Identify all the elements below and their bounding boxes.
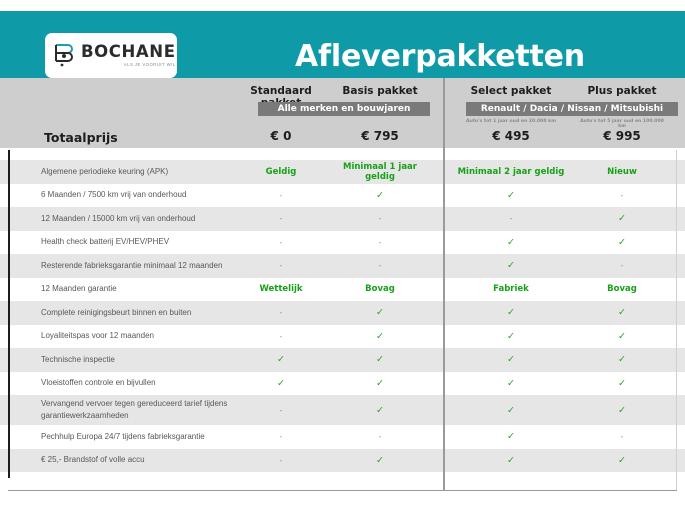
row-label: Pechhulp Europa 24/7 tijdens fabrieksgar… [41, 431, 256, 443]
package-price-plus: € 995 [578, 129, 666, 143]
cell-check: ✓ [578, 354, 666, 365]
cell-text: Minimaal 1 jaar geldig [327, 162, 433, 182]
cell-check: ✓ [456, 405, 566, 416]
cell-check: ✓ [456, 455, 566, 466]
cell-dash: - [578, 261, 666, 270]
cell-check: ✓ [456, 307, 566, 318]
bottom-rule [8, 490, 677, 491]
cell-check: ✓ [578, 307, 666, 318]
package-price-standaard: € 0 [243, 129, 319, 143]
table-row: Vloeistoffen controle en bijvullen✓✓✓✓ [0, 372, 685, 396]
row-label: Algemene periodieke keuring (APK) [41, 166, 256, 178]
bochane-logo[interactable]: BOCHANE ALS JE VOORUIT WIL [45, 33, 177, 78]
totaalprijs-label: Totaalprijs [44, 130, 118, 145]
cell-check: ✓ [327, 307, 433, 318]
package-price-basis: € 795 [327, 129, 433, 143]
table-row: Resterende fabrieksgarantie minimaal 12 … [0, 254, 685, 278]
row-label: € 25,- Brandstof of volle accu [41, 454, 256, 466]
table-row: € 25,- Brandstof of volle accu-✓✓✓ [0, 449, 685, 473]
table-row: Loyaliteitspas voor 12 maanden-✓✓✓ [0, 325, 685, 349]
cell-check: ✓ [578, 405, 666, 416]
cell-check: ✓ [456, 378, 566, 389]
package-sub-plus: Auto's tot 5 jaar oud en 100.000 km [578, 119, 666, 129]
row-label: Health check batterij EV/HEV/PHEV [41, 236, 256, 248]
table-row: Pechhulp Europa 24/7 tijdens fabrieksgar… [0, 425, 685, 449]
cell-dash: - [327, 214, 433, 223]
table-bottom-spacer [0, 472, 685, 500]
cell-check: ✓ [243, 378, 319, 389]
row-label: 12 Maanden / 15000 km vrij van onderhoud [41, 213, 256, 225]
cell-check: ✓ [456, 190, 566, 201]
cell-dash: - [243, 191, 319, 200]
logo-tagline: ALS JE VOORUIT WIL [124, 63, 176, 67]
cell-check: ✓ [578, 378, 666, 389]
page-title: Afleverpakketten [200, 33, 680, 79]
cell-dash: - [243, 332, 319, 341]
cell-dash: - [578, 432, 666, 441]
row-label: 12 Maanden garantie [41, 283, 256, 295]
row-label: Technische inspectie [41, 354, 256, 366]
row-label: Resterende fabrieksgarantie minimaal 12 … [41, 260, 256, 272]
cell-dash: - [327, 261, 433, 270]
table-row: Technische inspectie✓✓✓✓ [0, 348, 685, 372]
badge-alle-merken: Alle merken en bouwjaren [258, 102, 430, 116]
row-label: Vervangend vervoer tegen gereduceerd tar… [41, 398, 256, 421]
cell-check: ✓ [456, 260, 566, 271]
badge-renault-group: Renault / Dacia / Nissan / Mitsubishi [466, 102, 678, 116]
header-band: BOCHANE ALS JE VOORUIT WIL Afleverpakket… [0, 11, 685, 78]
cell-check: ✓ [327, 331, 433, 342]
table-row: 12 Maanden / 15000 km vrij van onderhoud… [0, 207, 685, 231]
cell-check: ✓ [578, 455, 666, 466]
bochane-b-logo-icon [53, 42, 77, 70]
cell-dash: - [243, 214, 319, 223]
table-row: Vervangend vervoer tegen gereduceerd tar… [0, 395, 685, 425]
package-name-plus: Plus pakket [578, 85, 666, 97]
cell-dash: - [456, 214, 566, 223]
package-sub-select: Auto's tot 1 jaar oud en 20.000 km [456, 119, 566, 124]
cell-dash: - [243, 406, 319, 415]
cell-check: ✓ [243, 354, 319, 365]
cell-check: ✓ [456, 331, 566, 342]
cell-check: ✓ [578, 331, 666, 342]
row-label: Complete reinigingsbeurt binnen en buite… [41, 307, 256, 319]
table-row: 12 Maanden garantieWettelijkBovagFabriek… [0, 278, 685, 302]
afleverpakketten-page: BOCHANE ALS JE VOORUIT WIL Afleverpakket… [0, 0, 685, 514]
package-price-select: € 495 [456, 129, 566, 143]
cell-dash: - [243, 456, 319, 465]
left-rule [8, 150, 10, 478]
column-group-divider [443, 78, 445, 490]
table-row: 6 Maanden / 7500 km vrij van onderhoud-✓… [0, 184, 685, 208]
cell-check: ✓ [327, 190, 433, 201]
table-row: Algemene periodieke keuring (APK)GeldigM… [0, 160, 685, 184]
cell-dash: - [243, 432, 319, 441]
cell-check: ✓ [327, 378, 433, 389]
cell-text: Fabriek [456, 284, 566, 294]
cell-text: Bovag [327, 284, 433, 294]
cell-dash: - [243, 261, 319, 270]
cell-check: ✓ [327, 354, 433, 365]
cell-check: ✓ [456, 431, 566, 442]
cell-check: ✓ [578, 213, 666, 224]
cell-check: ✓ [456, 237, 566, 248]
table-row: Health check batterij EV/HEV/PHEV--✓✓ [0, 231, 685, 255]
package-name-select: Select pakket [456, 85, 566, 97]
table-row: Complete reinigingsbeurt binnen en buite… [0, 301, 685, 325]
cell-dash: - [578, 191, 666, 200]
package-name-basis: Basis pakket [327, 85, 433, 97]
logo-wordmark: BOCHANE [81, 44, 176, 61]
cell-check: ✓ [578, 237, 666, 248]
cell-check: ✓ [327, 405, 433, 416]
cell-dash: - [327, 432, 433, 441]
cell-text: Geldig [243, 167, 319, 177]
table-top-spacer [0, 150, 685, 160]
cell-text: Bovag [578, 284, 666, 294]
cell-check: ✓ [456, 354, 566, 365]
cell-dash: - [243, 308, 319, 317]
row-label: Loyaliteitspas voor 12 maanden [41, 330, 256, 342]
comparison-table: Algemene periodieke keuring (APK)GeldigM… [0, 150, 685, 500]
cell-text: Wettelijk [243, 284, 319, 294]
cell-text: Nieuw [578, 167, 666, 177]
cell-check: ✓ [327, 455, 433, 466]
row-label: 6 Maanden / 7500 km vrij van onderhoud [41, 189, 256, 201]
cell-dash: - [327, 238, 433, 247]
cell-text: Minimaal 2 jaar geldig [456, 167, 566, 177]
cell-dash: - [243, 238, 319, 247]
right-edge-rule [676, 150, 677, 490]
row-label: Vloeistoffen controle en bijvullen [41, 377, 256, 389]
